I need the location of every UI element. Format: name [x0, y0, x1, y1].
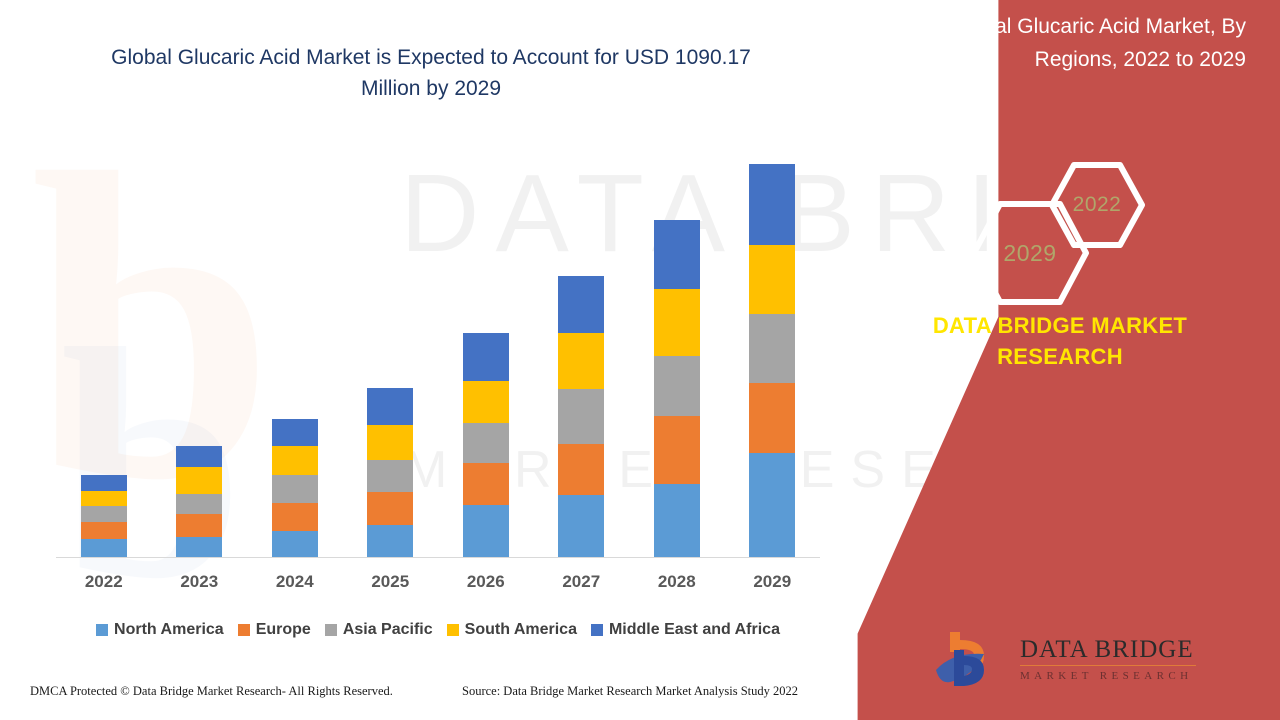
bar-segment[interactable] — [176, 537, 222, 557]
bar-segment[interactable] — [654, 356, 700, 415]
bar-segment[interactable] — [272, 446, 318, 475]
logo-text: DATA BRIDGE MARKET RESEARCH — [1020, 636, 1198, 684]
infographic-root: b b DATA BRIDGE MARKET RESEARCH Global G… — [0, 0, 1280, 720]
bar-segment[interactable] — [654, 220, 700, 289]
hexagon-group: 2029 2022 — [970, 160, 1170, 290]
legend-swatch-icon — [325, 624, 337, 636]
bar-group — [247, 140, 343, 557]
logo-secondary-text: MARKET RESEARCH — [1020, 668, 1198, 684]
bar-segment[interactable] — [749, 164, 795, 244]
bar-segment[interactable] — [749, 383, 795, 453]
bar-segment[interactable] — [463, 505, 509, 557]
x-axis-tick: 2029 — [725, 572, 821, 600]
footer-copyright: DMCA Protected © Data Bridge Market Rese… — [30, 684, 393, 699]
bar-segment[interactable] — [558, 276, 604, 333]
hexagon-2022-label: 2022 — [1048, 160, 1146, 250]
bar-segment[interactable] — [81, 539, 127, 557]
bar-segment[interactable] — [749, 245, 795, 315]
x-axis-tick: 2022 — [56, 572, 152, 600]
chart-legend: North AmericaEuropeAsia PacificSouth Ame… — [56, 617, 820, 643]
bar-segment[interactable] — [272, 503, 318, 530]
bar-segment[interactable] — [176, 494, 222, 514]
bar-segment[interactable] — [463, 423, 509, 463]
bar-group — [438, 140, 534, 557]
legend-label: Middle East and Africa — [609, 621, 780, 639]
hexagon-2022: 2022 — [1048, 160, 1146, 250]
bar-segment[interactable] — [558, 495, 604, 557]
stacked-bar[interactable] — [367, 388, 413, 557]
x-axis-labels: 20222023202420252026202720282029 — [56, 572, 820, 600]
bar-segment[interactable] — [749, 453, 795, 558]
stacked-bar[interactable] — [749, 164, 795, 557]
logo-primary-text: DATA BRIDGE — [1020, 636, 1198, 664]
stacked-bar[interactable] — [272, 419, 318, 557]
bar-segment[interactable] — [272, 531, 318, 557]
bar-segment[interactable] — [749, 314, 795, 383]
bar-group — [629, 140, 725, 557]
bar-segment[interactable] — [367, 425, 413, 460]
legend-swatch-icon — [238, 624, 250, 636]
bar-segment[interactable] — [81, 506, 127, 522]
bar-group — [725, 140, 821, 557]
bar-segment[interactable] — [463, 381, 509, 423]
bar-segment[interactable] — [367, 492, 413, 526]
x-axis-tick: 2028 — [629, 572, 725, 600]
bar-segment[interactable] — [654, 484, 700, 557]
stacked-bar[interactable] — [463, 333, 509, 557]
company-logo: DATA BRIDGE MARKET RESEARCH — [932, 628, 1192, 694]
bar-segment[interactable] — [272, 475, 318, 504]
stacked-bar[interactable] — [81, 475, 127, 557]
bar-segment[interactable] — [558, 389, 604, 444]
bar-segment[interactable] — [463, 333, 509, 381]
bar-segment[interactable] — [176, 446, 222, 467]
bar-segment[interactable] — [176, 514, 222, 537]
legend-item[interactable]: Middle East and Africa — [591, 621, 780, 639]
stacked-bar[interactable] — [654, 220, 700, 557]
bar-segment[interactable] — [367, 525, 413, 557]
x-axis-tick: 2026 — [438, 572, 534, 600]
x-axis-line — [56, 557, 820, 558]
bar-segment[interactable] — [272, 419, 318, 446]
footer-source: Source: Data Bridge Market Research Mark… — [462, 684, 798, 699]
bar-segment[interactable] — [654, 416, 700, 485]
stacked-bar-chart — [56, 140, 820, 557]
legend-label: South America — [465, 621, 577, 639]
bar-segment[interactable] — [367, 388, 413, 425]
panel-title: Global Glucaric Acid Market, By Regions,… — [874, 10, 1246, 76]
legend-swatch-icon — [591, 624, 603, 636]
logo-mark-icon — [932, 630, 1012, 692]
bar-segment[interactable] — [81, 475, 127, 491]
bar-segment[interactable] — [654, 289, 700, 357]
bar-group — [56, 140, 152, 557]
x-axis-tick: 2027 — [534, 572, 630, 600]
legend-swatch-icon — [447, 624, 459, 636]
x-axis-tick: 2024 — [247, 572, 343, 600]
legend-item[interactable]: South America — [447, 621, 577, 639]
bar-segment[interactable] — [463, 463, 509, 505]
x-axis-tick: 2025 — [343, 572, 439, 600]
legend-item[interactable]: Europe — [238, 621, 311, 639]
brand-name: DATA BRIDGE MARKET RESEARCH — [874, 310, 1246, 372]
bar-segment[interactable] — [81, 491, 127, 507]
logo-divider — [1020, 665, 1196, 666]
x-axis-tick: 2023 — [152, 572, 248, 600]
legend-label: Europe — [256, 621, 311, 639]
bar-group — [152, 140, 248, 557]
stacked-bar[interactable] — [558, 276, 604, 557]
stacked-bar[interactable] — [176, 446, 222, 557]
bar-segment[interactable] — [558, 333, 604, 389]
legend-label: North America — [114, 621, 224, 639]
bar-group — [534, 140, 630, 557]
legend-swatch-icon — [96, 624, 108, 636]
bar-group — [343, 140, 439, 557]
bar-segment[interactable] — [176, 467, 222, 493]
chart-title: Global Glucaric Acid Market is Expected … — [96, 42, 766, 104]
bar-segment[interactable] — [558, 444, 604, 495]
bar-segment[interactable] — [81, 522, 127, 539]
legend-label: Asia Pacific — [343, 621, 433, 639]
legend-item[interactable]: North America — [96, 621, 224, 639]
legend-item[interactable]: Asia Pacific — [325, 621, 433, 639]
bar-segment[interactable] — [367, 460, 413, 492]
